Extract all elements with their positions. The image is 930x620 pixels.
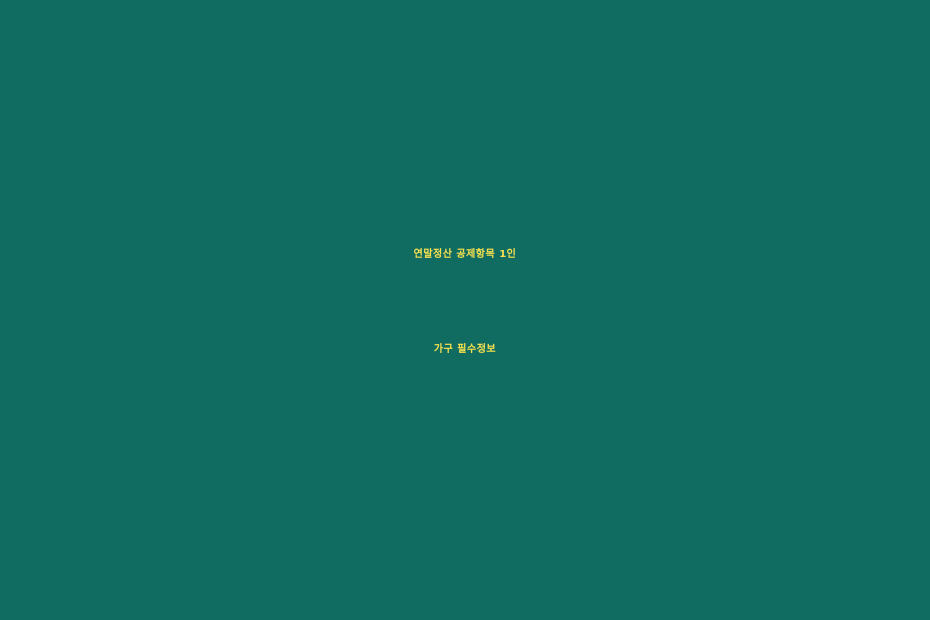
title-line-2: 가구 필수정보 (0, 302, 930, 397)
title-card: 연말정산 공제항목 1인 가구 필수정보 (0, 0, 930, 620)
title-block: 연말정산 공제항목 1인 가구 필수정보 (0, 207, 930, 397)
title-line-1: 연말정산 공제항목 1인 (0, 207, 930, 302)
